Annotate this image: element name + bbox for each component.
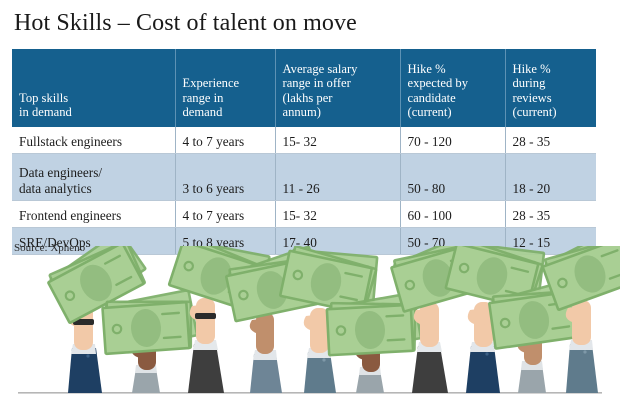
cell-salary-range: 15- 32 (275, 201, 400, 228)
cell-hike-reviews: 28 - 35 (505, 127, 596, 154)
table-body: Fullstack engineers 4 to 7 years 15- 32 … (12, 127, 596, 255)
table-row: Frontend engineers 4 to 7 years 15- 32 6… (12, 201, 596, 228)
cell-skill: Data engineers/ data analytics (12, 154, 175, 201)
cell-experience: 4 to 7 years (175, 127, 275, 154)
column-header-hike-reviews: Hike % during reviews (current) (505, 49, 596, 127)
cell-hike-expected: 70 - 120 (400, 127, 505, 154)
cell-hike-expected: 50 - 80 (400, 154, 505, 201)
column-header-experience-range: Experience range in demand (175, 49, 275, 127)
table-header-row: Top skills in demand Experience range in… (12, 49, 596, 127)
infographic-page: Hot Skills – Cost of talent on move Top … (0, 0, 620, 413)
skills-table-container: Top skills in demand Experience range in… (12, 49, 596, 255)
cell-skill: Fullstack engineers (12, 127, 175, 154)
cell-hike-reviews: 18 - 20 (505, 154, 596, 201)
hands-raising-cash-illustration (0, 246, 620, 413)
cell-salary-range: 11 - 26 (275, 154, 400, 201)
cell-hike-reviews: 28 - 35 (505, 201, 596, 228)
table-header: Top skills in demand Experience range in… (12, 49, 596, 127)
table-row: Data engineers/ data analytics 3 to 6 ye… (12, 154, 596, 201)
table-row: Fullstack engineers 4 to 7 years 15- 32 … (12, 127, 596, 154)
column-header-hike-expected: Hike % expected by candidate (current) (400, 49, 505, 127)
column-header-top-skills: Top skills in demand (12, 49, 175, 127)
cell-hike-expected: 60 - 100 (400, 201, 505, 228)
cell-experience: 4 to 7 years (175, 201, 275, 228)
cell-experience: 3 to 6 years (175, 154, 275, 201)
cell-skill: Frontend engineers (12, 201, 175, 228)
cell-salary-range: 15- 32 (275, 127, 400, 154)
skills-table: Top skills in demand Experience range in… (12, 49, 596, 255)
page-title: Hot Skills – Cost of talent on move (14, 8, 357, 38)
column-header-average-salary: Average salary range in offer (lakhs per… (275, 49, 400, 127)
arm-2 (102, 290, 198, 393)
